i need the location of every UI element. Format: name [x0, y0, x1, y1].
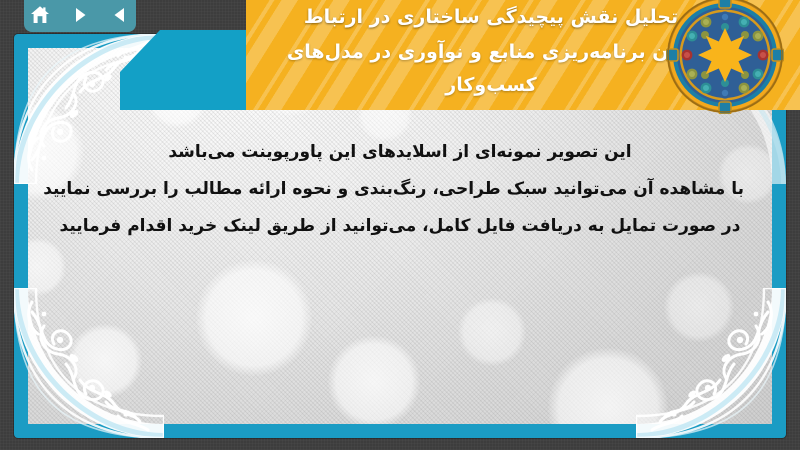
body-line: در صورت تمایل به دریافت فایل کامل، می‌تو…: [56, 208, 744, 245]
previous-arrow-icon: [110, 5, 130, 25]
slide-title-line-3: کسب‌وکار: [256, 69, 726, 102]
slide-navigation-bar: [24, 0, 136, 32]
slide-viewer: این تصویر نمونه‌ای از اسلایدهای این پاور…: [0, 0, 800, 450]
slide-title-line-2: میان برنامه‌ریزی منابع و نوآوری در مدل‌ه…: [256, 36, 726, 69]
slide-body-text: این تصویر نمونه‌ای از اسلایدهای این پاور…: [28, 134, 772, 245]
bokeh-circle: [328, 336, 420, 424]
bokeh-circle: [196, 260, 312, 376]
home-icon: [29, 4, 51, 26]
body-line: این تصویر نمونه‌ای از اسلایدهای این پاور…: [56, 134, 744, 171]
bokeh-circle: [548, 348, 668, 424]
body-line: با مشاهده آن می‌توانید سبک طراحی، رنگ‌بن…: [56, 171, 744, 208]
slide-title-line-1: تحلیل نقش پیچیدگی ساختاری در ارتباط: [246, 2, 800, 32]
previous-slide-button[interactable]: [107, 2, 133, 28]
next-slide-button[interactable]: [67, 2, 93, 28]
home-button[interactable]: [27, 2, 53, 28]
bokeh-circle: [28, 238, 66, 296]
bokeh-circle: [458, 298, 526, 366]
bokeh-circle: [664, 272, 734, 342]
next-arrow-icon: [70, 5, 90, 25]
bokeh-circle: [68, 324, 142, 398]
